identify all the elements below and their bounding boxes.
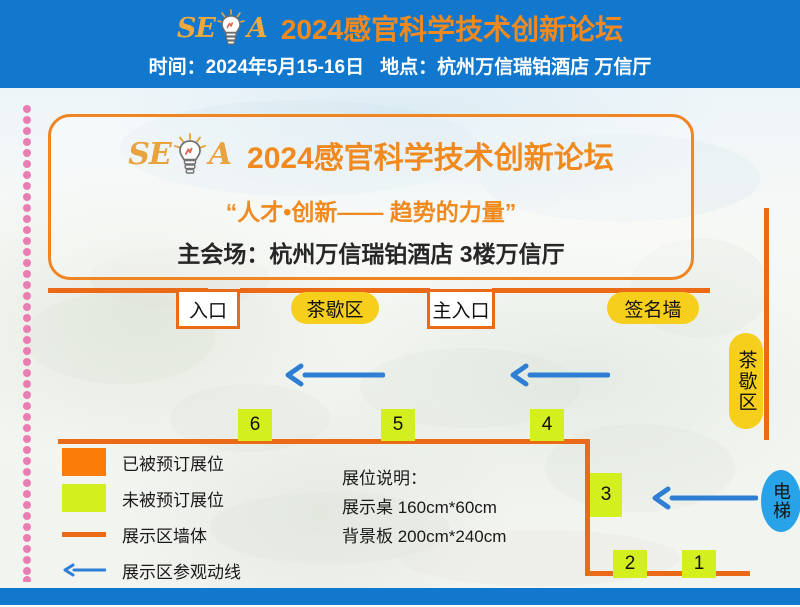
legend-item-booked: 已被预订展位 — [62, 444, 312, 480]
legend-route-label: 展示区参观动线 — [122, 558, 241, 583]
card-title-row: SE A 2024感官科学技 — [51, 133, 691, 177]
booth-4-label: 4 — [542, 414, 553, 436]
booth-5[interactable]: 5 — [381, 409, 415, 441]
booth-spec-heading: 展位说明： — [342, 470, 506, 487]
legend: 已被预订展位 未被预订展位 展示区墙体 展示区参观动线 — [62, 444, 312, 588]
card-lightbulb-icon-svg — [173, 133, 207, 177]
legend-route-arrow-icon — [62, 563, 106, 577]
booth-6-label: 6 — [250, 414, 261, 436]
lightbulb-icon — [216, 9, 246, 47]
header-title-row: SE — [0, 6, 800, 50]
tea-break-right-label: 茶歇区 — [733, 350, 760, 413]
main-entrance-label: 主入口 — [432, 296, 489, 323]
conference-floor-plan: SE — [0, 0, 800, 607]
card-lightbulb-icon — [173, 133, 207, 177]
booth-2-label: 2 — [625, 553, 636, 575]
legend-booked-swatch — [62, 448, 106, 476]
sea-logo: SE — [177, 8, 267, 48]
legend-item-route: 展示区参观动线 — [62, 552, 312, 588]
event-title-card: SE A 2024感官科学技 — [48, 114, 694, 280]
tea-break-right-pill[interactable]: 茶歇区 — [729, 333, 763, 429]
route-arrow-elevator-icon — [648, 486, 758, 510]
logo-text-right: A — [247, 15, 267, 42]
signature-wall-label: 签名墙 — [624, 295, 681, 322]
main-entrance-box[interactable]: 主入口 — [427, 289, 495, 329]
booth-4[interactable]: 4 — [530, 409, 564, 441]
entrance-label: 入口 — [189, 296, 227, 323]
booth-5-label: 5 — [393, 414, 404, 436]
booth-2[interactable]: 2 — [613, 550, 647, 578]
booth-spec: 展位说明： 展示桌 160cm*60cm 背景板 200cm*240cm — [342, 470, 506, 557]
dotted-rail-icon — [22, 104, 32, 582]
header-venue-value: 杭州万信瑞铂酒店 万信厅 — [437, 52, 651, 79]
card-slogan: “人才•创新—— 趋势的力量” — [51, 193, 691, 227]
lightbulb-icon-svg — [216, 9, 246, 47]
legend-item-available: 未被预订展位 — [62, 480, 312, 516]
card-logo-text-right: A — [209, 140, 231, 170]
header-venue-label: 地点： — [380, 52, 437, 79]
wall-bottom — [585, 571, 750, 576]
page-header: SE — [0, 0, 800, 88]
tea-break-top-pill[interactable]: 茶歇区 — [291, 292, 379, 324]
card-logo-text-left: SE — [128, 140, 171, 170]
route-arrow-middle-icon — [506, 363, 610, 387]
route-arrow-left-icon — [281, 363, 385, 387]
signature-wall-pill[interactable]: 签名墙 — [607, 292, 699, 324]
booth-1-label: 1 — [694, 553, 705, 575]
elevator-marker[interactable]: 电梯 — [761, 470, 800, 532]
legend-wall-label: 展示区墙体 — [122, 522, 207, 547]
booth-spec-backboard: 背景板 200cm*240cm — [342, 528, 506, 545]
card-title: 2024感官科学技术创新论坛 — [247, 133, 614, 177]
booth-1[interactable]: 1 — [682, 550, 716, 578]
wall-right-vertical — [764, 208, 769, 440]
header-title: 2024感官科学技术创新论坛 — [281, 8, 623, 48]
card-venue: 主会场：杭州万信瑞铂酒店 3楼万信厅 — [51, 235, 691, 269]
legend-booked-label: 已被预订展位 — [122, 450, 224, 475]
booth-spec-table: 展示桌 160cm*60cm — [342, 499, 506, 516]
legend-available-swatch — [62, 484, 106, 512]
legend-available-label: 未被预订展位 — [122, 486, 224, 511]
legend-arrow-svg — [62, 563, 106, 577]
header-date-value: 2024年5月15-16日 — [206, 52, 364, 79]
legend-wall-line — [62, 532, 106, 537]
booth-3-label: 3 — [601, 484, 612, 506]
entrance-box[interactable]: 入口 — [176, 289, 240, 329]
header-date-label: 时间： — [149, 52, 206, 79]
legend-item-wall: 展示区墙体 — [62, 516, 312, 552]
bottom-bar — [0, 588, 800, 605]
booth-6[interactable]: 6 — [238, 409, 272, 441]
elevator-label: 电梯 — [768, 482, 794, 520]
header-meta-row: 时间： 2024年5月15-16日 地点： 杭州万信瑞铂酒店 万信厅 — [0, 48, 800, 82]
booth-3[interactable]: 3 — [590, 473, 622, 517]
tea-break-top-label: 茶歇区 — [306, 295, 363, 322]
logo-text-left: SE — [177, 15, 215, 42]
